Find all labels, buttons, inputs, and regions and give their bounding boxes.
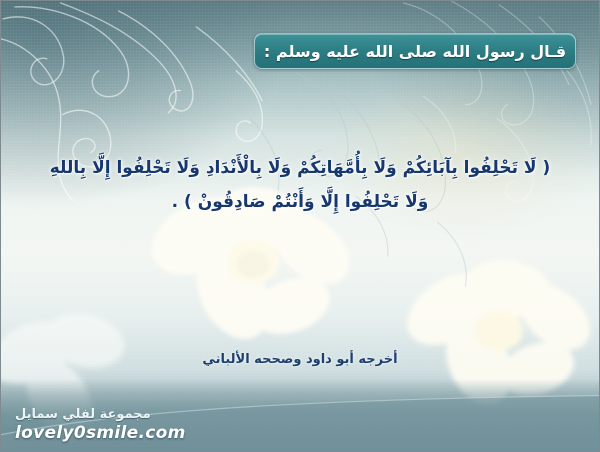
footer-brand: مجموعة لفلي سمايل lovely0smile.com [15, 407, 186, 443]
hadith-attribution: أخرجه أبو داود وصححه الألباني [1, 352, 599, 367]
hadith-card: قـال رسول الله صلى الله عليه وسلم : ( لَ… [0, 0, 600, 452]
header-banner: قـال رسول الله صلى الله عليه وسلم : [254, 33, 576, 69]
hadith-line-1: ( لَا تَحْلِفُوا بِآبَائِكُمْ وَلَا بِأُ… [1, 151, 599, 185]
hadith-line-2: وَلَا تَحْلِفُوا إِلَّا وَأَنْتُمْ صَادِ… [1, 185, 599, 219]
header-banner-text: قـال رسول الله صلى الله عليه وسلم : [264, 42, 566, 61]
footer-brand-arabic: مجموعة لفلي سمايل [15, 407, 186, 422]
hadith-text-block: ( لَا تَحْلِفُوا بِآبَائِكُمْ وَلَا بِأُ… [1, 151, 599, 219]
footer-brand-site: lovely0smile.com [15, 423, 186, 443]
